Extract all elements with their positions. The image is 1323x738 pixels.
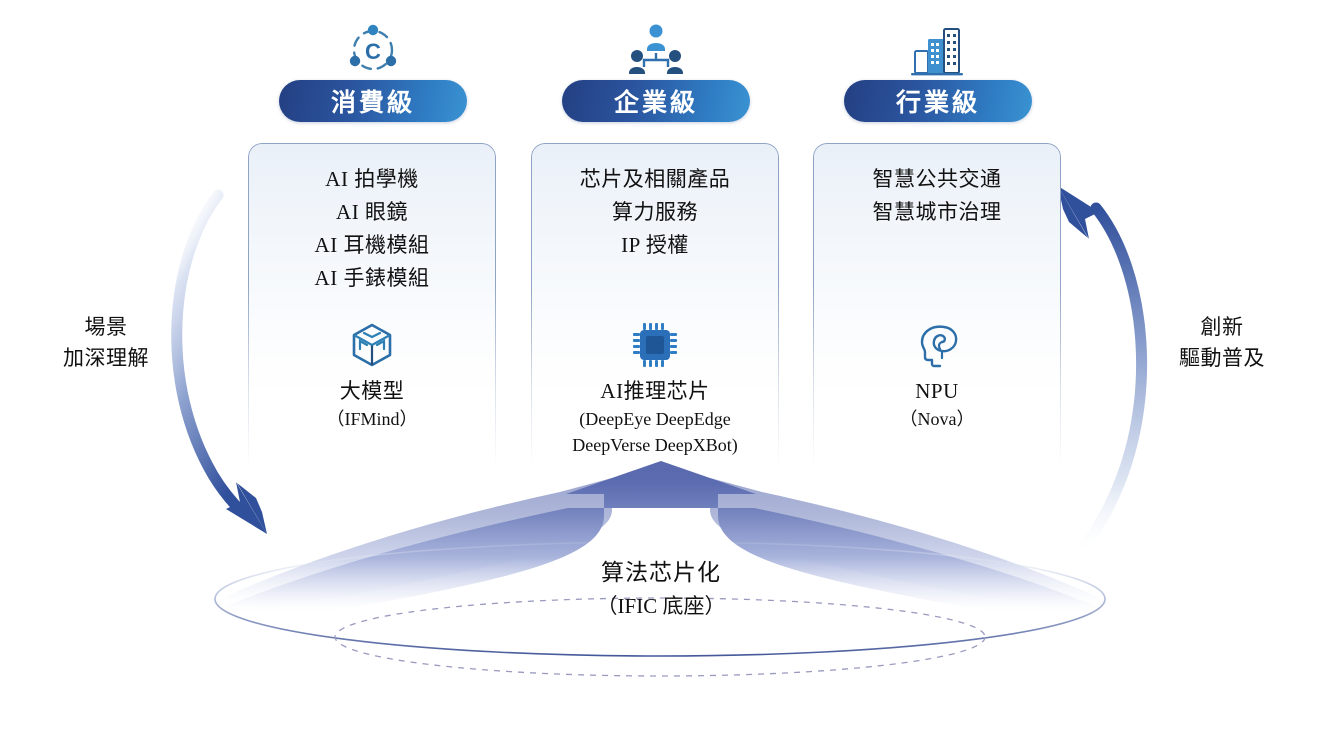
tech-enterprise-name: AI推理芯片 <box>531 376 779 406</box>
right-cycle-arrow <box>1058 186 1142 556</box>
list-item: AI 手錶模組 <box>248 262 496 295</box>
side-label-right: 創新 驅動普及 <box>1152 312 1292 374</box>
pill-consumer-label: 消費級 <box>331 83 415 119</box>
tech-enterprise-sub2: DeepVerse DeepXBot) <box>490 432 820 458</box>
side-label-right-line1: 創新 <box>1152 312 1292 343</box>
list-item: 智慧公共交通 <box>813 163 1061 196</box>
side-label-left-line2: 加深理解 <box>36 343 176 374</box>
card-consumer-items: AI 拍學機 AI 眼鏡 AI 耳機模組 AI 手錶模組 <box>248 163 496 295</box>
svg-text:C: C <box>365 39 381 64</box>
pill-consumer[interactable]: 消費級 <box>279 80 467 122</box>
base-platform-line2: （IFIC 底座） <box>461 590 861 623</box>
chip-icon <box>531 322 779 368</box>
list-item: AI 拍學機 <box>248 163 496 196</box>
pill-industry-label: 行業級 <box>896 83 980 119</box>
diagram-canvas: C 消費級 AI 拍學機 AI 眼鏡 AI 耳機模組 AI 手錶模組 <box>0 0 1323 738</box>
list-item: 芯片及相關產品 <box>531 163 779 196</box>
base-platform-label: 算法芯片化 （IFIC 底座） <box>461 556 861 623</box>
list-item: AI 耳機模組 <box>248 229 496 262</box>
tech-industry: NPU （Nova） <box>813 322 1061 432</box>
list-item: 算力服務 <box>531 196 779 229</box>
list-item: 智慧城市治理 <box>813 196 1061 229</box>
tech-enterprise-sub: (DeepEye DeepEdge <box>490 406 820 432</box>
pill-enterprise[interactable]: 企業級 <box>562 80 750 122</box>
brain-head-npu-icon <box>813 322 1061 368</box>
tech-consumer-sub: （IFMind） <box>248 406 496 432</box>
pill-industry[interactable]: 行業級 <box>844 80 1032 122</box>
pill-enterprise-label: 企業級 <box>614 83 698 119</box>
card-enterprise-items: 芯片及相關產品 算力服務 IP 授權 <box>531 163 779 262</box>
tech-consumer: 大模型 （IFMind） <box>248 322 496 432</box>
people-group-icon <box>625 22 687 78</box>
tech-industry-sub: （Nova） <box>813 406 1061 432</box>
list-item: IP 授權 <box>531 229 779 262</box>
buildings-icon <box>907 22 969 78</box>
side-label-left-line1: 場景 <box>36 312 176 343</box>
consumer-c-icon: C <box>342 22 404 78</box>
tech-enterprise: AI推理芯片 (DeepEye DeepEdge DeepVerse DeepX… <box>531 322 779 458</box>
side-label-right-line2: 驅動普及 <box>1152 343 1292 374</box>
list-item: AI 眼鏡 <box>248 196 496 229</box>
tech-industry-name: NPU <box>813 376 1061 406</box>
side-label-left: 場景 加深理解 <box>36 312 176 374</box>
base-platform-line1: 算法芯片化 <box>461 556 861 590</box>
card-industry-items: 智慧公共交通 智慧城市治理 <box>813 163 1061 229</box>
tech-consumer-name: 大模型 <box>248 376 496 406</box>
cube-model-icon <box>248 322 496 368</box>
